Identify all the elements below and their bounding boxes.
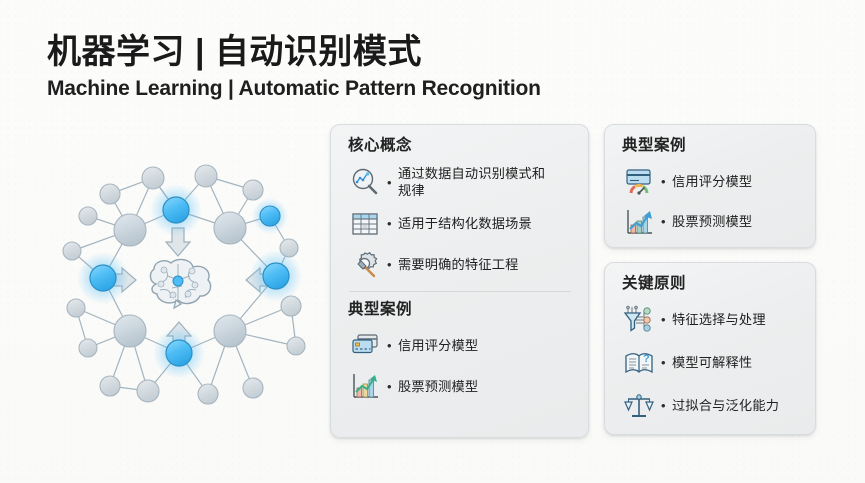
section-title-typical-cases-right: 典型案例 [622, 138, 801, 154]
section-title-typical-cases: 典型案例 [348, 302, 574, 318]
list-item-label: 信用评分模型 [398, 337, 478, 355]
list-item[interactable]: • 信用评分模型 [348, 328, 574, 362]
card-key-principles: 关键原则 [604, 262, 816, 435]
svg-text:?: ? [643, 353, 650, 365]
balance-scales-icon [622, 389, 656, 423]
list-item-label: 过拟合与泛化能力 [672, 397, 779, 415]
bullet: • [387, 380, 398, 393]
credit-card-icon [348, 328, 382, 362]
list-item-label: 通过数据自动识别模式和规律 [398, 165, 548, 200]
list-item[interactable]: ? • 模型可解释性 [622, 346, 801, 380]
bullet: • [661, 313, 672, 326]
funnel-filter-icon [622, 303, 656, 337]
bullet: • [387, 217, 398, 230]
card-typical-cases: 典型案例 • 信用评分模型 [604, 124, 816, 248]
magnifier-chart-icon [348, 165, 382, 199]
list-item-label: 需要明确的特征工程 [398, 256, 519, 274]
bullet: • [661, 399, 672, 412]
stock-chart-icon [622, 205, 656, 239]
bullet: • [661, 356, 672, 369]
book-question-icon: ? [622, 346, 656, 380]
page-title-cn: 机器学习 | 自动识别模式 [47, 33, 667, 71]
section-title-key-principles: 关键原则 [622, 276, 801, 292]
bullet: • [661, 175, 672, 188]
section-title-core-concepts: 核心概念 [348, 138, 574, 154]
list-item-label: 信用评分模型 [672, 173, 752, 191]
brain-icon [150, 260, 210, 308]
bullet: • [387, 258, 398, 271]
card-core-concepts: 核心概念 • 通过数据自动识别模式和规律 [330, 124, 589, 438]
list-item-label: 特征选择与处理 [672, 311, 766, 329]
list-item[interactable]: • 股票预测模型 [348, 369, 574, 403]
credit-score-gauge-icon [622, 165, 656, 199]
slide-header: 机器学习 | 自动识别模式 Machine Learning | Automat… [47, 33, 667, 101]
growth-chart-icon [348, 369, 382, 403]
list-item[interactable]: • 适用于结构化数据场景 [348, 207, 574, 241]
slide-canvas: 机器学习 | 自动识别模式 Machine Learning | Automat… [0, 0, 865, 483]
page-title-en: Machine Learning | Automatic Pattern Rec… [47, 77, 667, 101]
list-item[interactable]: • 特征选择与处理 [622, 303, 801, 337]
list-item-label: 股票预测模型 [398, 378, 478, 396]
bullet: • [387, 339, 398, 352]
bullet: • [387, 176, 398, 189]
section-divider [349, 291, 571, 292]
gear-wrench-icon [348, 248, 382, 282]
list-item[interactable]: • 通过数据自动识别模式和规律 [348, 165, 574, 200]
neural-network-brain-diagram [48, 148, 334, 426]
table-icon [348, 207, 382, 241]
list-item[interactable]: • 需要明确的特征工程 [348, 248, 574, 282]
list-item[interactable]: • 股票预测模型 [622, 205, 801, 239]
list-item[interactable]: • 信用评分模型 [622, 165, 801, 199]
list-item-label: 模型可解释性 [672, 354, 752, 372]
list-item-label: 股票预测模型 [672, 213, 752, 231]
list-item[interactable]: • 过拟合与泛化能力 [622, 389, 801, 423]
bullet: • [661, 215, 672, 228]
list-item-label: 适用于结构化数据场景 [398, 215, 532, 233]
